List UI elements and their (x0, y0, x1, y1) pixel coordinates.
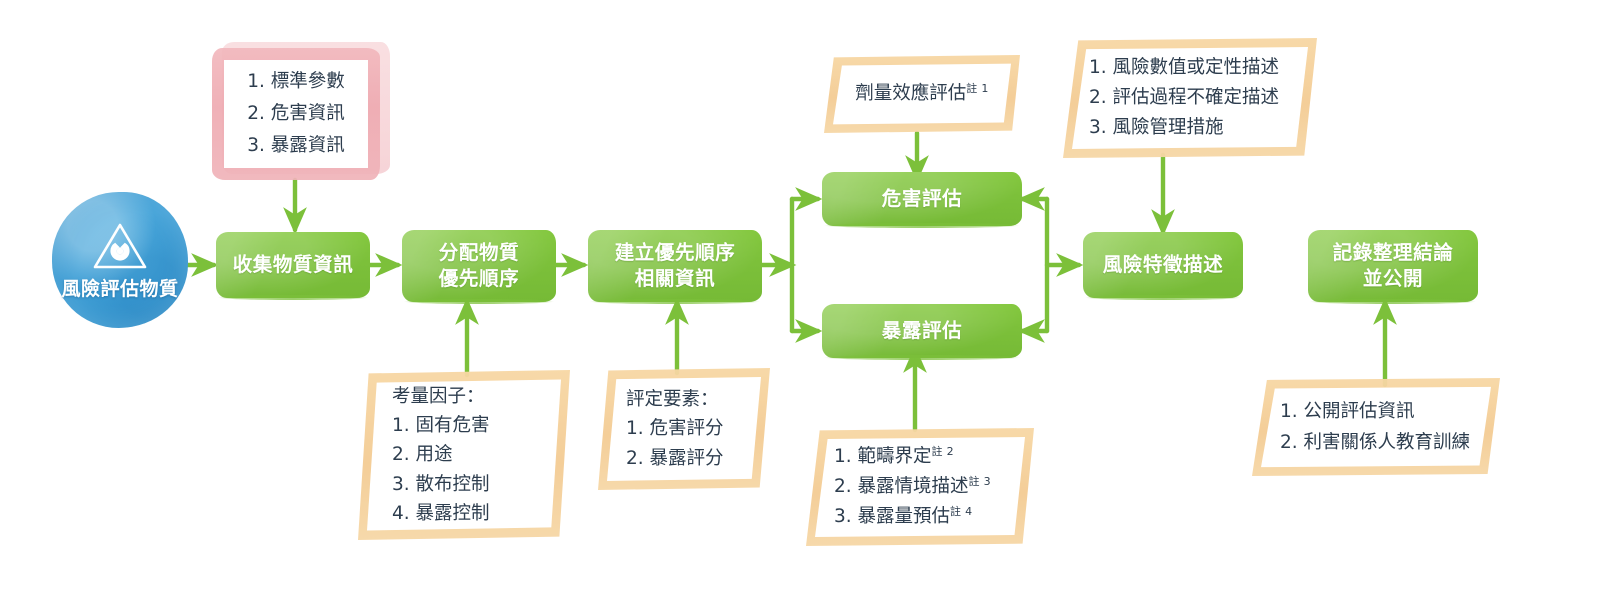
pink-note-input-data[interactable]: 1. 標準參數 2. 危害資訊 3. 暴露資訊 (212, 48, 380, 180)
start-node-risk-substance[interactable]: 風險評估物質 (52, 192, 188, 328)
tan-note-item: 1. 範疇界定註 2 (834, 442, 1034, 472)
process-box-establish-priority-info[interactable]: 建立優先順序 相關資訊 (588, 230, 762, 302)
footnote-marker: 註 2 (932, 445, 954, 458)
tan-note-item: 1. 風險數值或定性描述 (1089, 53, 1317, 83)
flowchart-canvas: 風險評估物質 1. 標準參數 2. 危害資訊 3. 暴露資訊 收集物質資訊 分配… (0, 0, 1605, 597)
tan-note-item: 1. 固有危害 (392, 411, 570, 440)
start-node-label: 風險評估物質 (52, 274, 188, 301)
radiation-hazard-icon (91, 220, 149, 272)
process-box-label-line2: 優先順序 (439, 266, 519, 292)
process-box-label-line1: 分配物質 (439, 240, 519, 266)
tan-note-item: 3. 散布控制 (392, 470, 570, 499)
process-box-label: 收集物質資訊 (233, 252, 354, 278)
tan-note-consider-factors[interactable]: 考量因子： 1. 固有危害 2. 用途 3. 散布控制 4. 暴露控制 (358, 370, 570, 540)
process-box-label: 危害評估 (882, 186, 962, 212)
tan-note-item: 考量因子： (392, 382, 570, 411)
process-box-hazard-assessment[interactable]: 危害評估 (822, 172, 1022, 226)
tan-note-item: 評定要素： (626, 385, 770, 415)
pink-note-inner: 1. 標準參數 2. 危害資訊 3. 暴露資訊 (224, 60, 368, 168)
tan-note-item: 2. 暴露評分 (626, 444, 770, 474)
tan-note-assess-elements[interactable]: 評定要素： 1. 危害評分 2. 暴露評分 (598, 368, 770, 490)
process-box-risk-characterisation[interactable]: 風險特徵描述 (1083, 232, 1243, 298)
process-box-allocate-priority[interactable]: 分配物質 優先順序 (402, 230, 556, 302)
process-box-collect-info[interactable]: 收集物質資訊 (216, 232, 370, 298)
tan-note-item: 1. 危害評分 (626, 414, 770, 444)
process-box-exposure-assessment[interactable]: 暴露評估 (822, 304, 1022, 358)
footnote-marker: 註 1 (966, 82, 988, 95)
tan-note-item: 3. 風險管理措施 (1089, 113, 1317, 143)
tan-note-item: 1. 公開評估資訊 (1280, 396, 1500, 427)
process-box-label-line2: 相關資訊 (615, 266, 736, 292)
process-box-label: 風險特徵描述 (1103, 252, 1224, 278)
tan-note-item: 2. 評估過程不確定描述 (1089, 83, 1317, 113)
process-box-record-and-disclose[interactable]: 記錄整理結論 並公開 (1308, 230, 1478, 302)
pink-note-item: 2. 危害資訊 (247, 98, 345, 130)
footnote-marker: 註 3 (969, 475, 991, 488)
tan-note-item: 2. 利害關係人教育訓練 (1280, 427, 1500, 458)
tan-note-disclosure[interactable]: 1. 公開評估資訊 2. 利害關係人教育訓練 (1252, 378, 1500, 476)
tan-note-item: 2. 暴露情境描述註 3 (834, 472, 1034, 502)
process-box-label-line1: 建立優先順序 (615, 240, 736, 266)
tan-note-text: 劑量效應評估註 1 (855, 79, 988, 109)
tan-note-exposure-steps[interactable]: 1. 範疇界定註 2 2. 暴露情境描述註 3 3. 暴露量預估註 4 (806, 428, 1034, 546)
process-box-label-line1: 記錄整理結論 (1333, 240, 1454, 266)
tan-note-item: 2. 用途 (392, 440, 570, 469)
process-box-label: 暴露評估 (882, 318, 962, 344)
footnote-marker: 註 4 (950, 505, 972, 518)
tan-note-item: 3. 暴露量預估註 4 (834, 502, 1034, 532)
pink-note-item: 3. 暴露資訊 (247, 130, 345, 162)
tan-note-risk-outputs[interactable]: 1. 風險數值或定性描述 2. 評估過程不確定描述 3. 風險管理措施 (1063, 38, 1317, 158)
pink-note-item: 1. 標準參數 (247, 66, 345, 98)
tan-note-item: 4. 暴露控制 (392, 499, 570, 528)
process-box-label-line2: 並公開 (1333, 266, 1454, 292)
tan-note-dose-response[interactable]: 劑量效應評估註 1 (824, 55, 1020, 133)
